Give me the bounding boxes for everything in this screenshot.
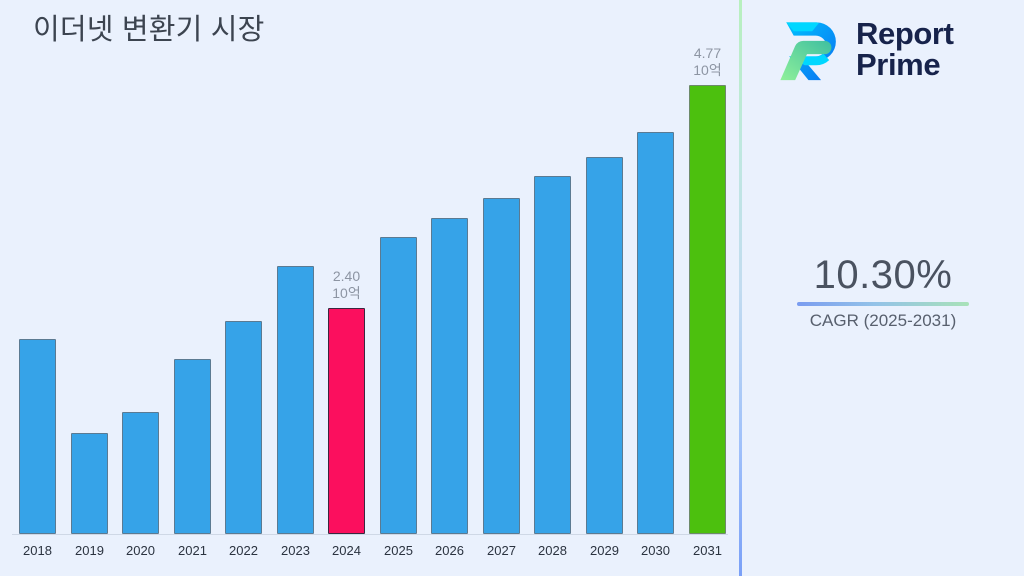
x-tick-2031: 2031 xyxy=(680,543,735,558)
bar-label-value-2024: 2.40 xyxy=(306,268,387,285)
x-tick-2027: 2027 xyxy=(474,543,529,558)
bar-2021[interactable] xyxy=(174,359,211,534)
bar-2020[interactable] xyxy=(122,412,159,534)
bar-2019[interactable] xyxy=(71,433,108,534)
bar-label-2024: 2.4010억 xyxy=(306,268,387,302)
x-tick-2021: 2021 xyxy=(165,543,220,558)
cagr-block: 10.30% CAGR (2025-2031) xyxy=(742,252,1024,332)
bar-2031[interactable] xyxy=(689,85,726,534)
bar-chart: 2.4010억4.7710억 2018201920202021202220232… xyxy=(0,0,740,576)
x-tick-2023: 2023 xyxy=(268,543,323,558)
x-tick-2026: 2026 xyxy=(422,543,477,558)
bar-2030[interactable] xyxy=(637,132,674,534)
cagr-divider-rule xyxy=(797,302,969,306)
x-axis-line xyxy=(12,534,728,535)
bar-label-unit-2024: 10억 xyxy=(306,285,387,302)
x-tick-2020: 2020 xyxy=(113,543,168,558)
bar-2028[interactable] xyxy=(534,176,571,534)
bar-2018[interactable] xyxy=(19,339,56,534)
bar-2026[interactable] xyxy=(431,218,468,534)
report-prime-logo-mark-icon xyxy=(770,12,844,86)
bar-label-unit-2031: 10억 xyxy=(667,62,748,79)
brand-logo-line1: Report xyxy=(856,18,954,49)
x-tick-2024: 2024 xyxy=(319,543,374,558)
brand-logo[interactable]: Report Prime xyxy=(770,12,954,86)
x-tick-2019: 2019 xyxy=(62,543,117,558)
x-tick-2030: 2030 xyxy=(628,543,683,558)
brand-logo-line2: Prime xyxy=(856,49,954,80)
x-tick-2029: 2029 xyxy=(577,543,632,558)
chart-infographic: 이더넷 변환기 시장 2.4010억4.7710억 20182019202020… xyxy=(0,0,1024,576)
x-tick-2025: 2025 xyxy=(371,543,426,558)
x-tick-2018: 2018 xyxy=(10,543,65,558)
x-tick-2022: 2022 xyxy=(216,543,271,558)
brand-logo-text: Report Prime xyxy=(856,18,954,80)
bar-2023[interactable] xyxy=(277,266,314,534)
bar-2024[interactable] xyxy=(328,308,365,534)
bar-2022[interactable] xyxy=(225,321,262,534)
cagr-value: 10.30% xyxy=(742,252,1024,298)
cagr-caption: CAGR (2025-2031) xyxy=(742,310,1024,332)
bar-2029[interactable] xyxy=(586,157,623,534)
bar-label-2031: 4.7710억 xyxy=(667,45,748,79)
right-panel: Report Prime 10.30% CAGR (2025-2031) xyxy=(742,0,1024,576)
bar-label-value-2031: 4.77 xyxy=(667,45,748,62)
bar-2027[interactable] xyxy=(483,198,520,534)
x-tick-2028: 2028 xyxy=(525,543,580,558)
